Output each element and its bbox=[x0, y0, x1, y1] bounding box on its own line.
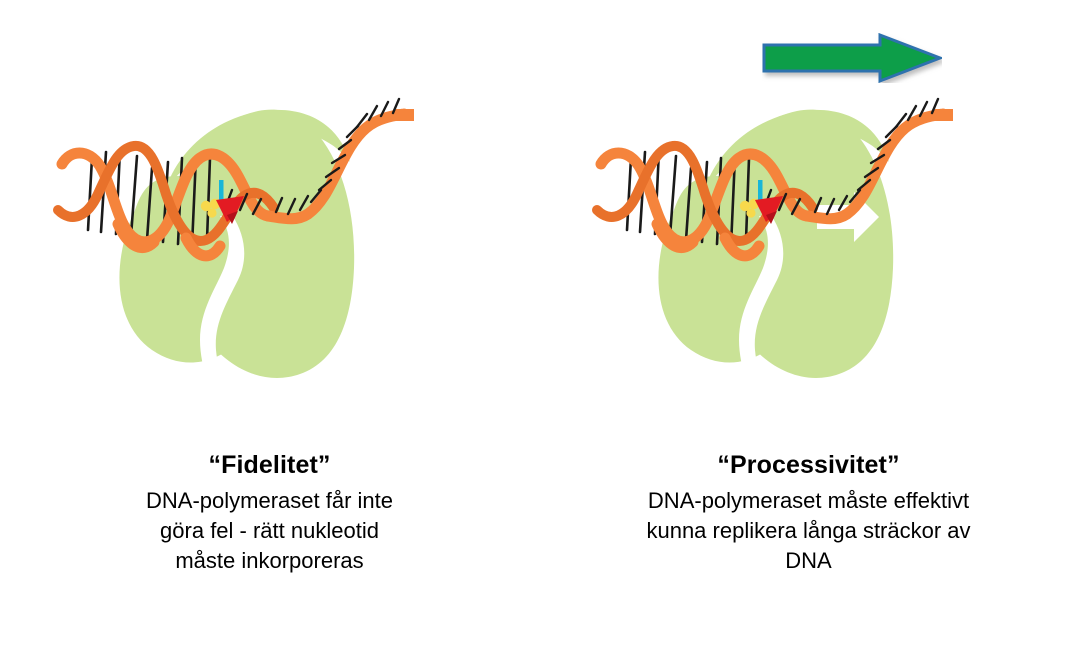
caption-line: DNA-polymeraset får inte bbox=[0, 486, 539, 516]
caption-title-fidelity: “Fidelitet” bbox=[0, 448, 539, 482]
figure-fidelity bbox=[0, 10, 539, 430]
panel-fidelity: “Fidelitet” DNA-polymeraset får inte gör… bbox=[0, 0, 539, 666]
caption-line: kunna replikera långa sträckor av bbox=[539, 516, 1078, 546]
slide-canvas: “Fidelitet” DNA-polymeraset får inte gör… bbox=[0, 0, 1078, 666]
green-progress-arrow bbox=[762, 33, 942, 83]
caption-title-processivity: “Processivitet” bbox=[539, 448, 1078, 482]
caption-line: DNA-polymeraset måste effektivt bbox=[539, 486, 1078, 516]
caption-fidelity: “Fidelitet” DNA-polymeraset får inte gör… bbox=[0, 448, 539, 576]
panel-processivity: “Processivitet” DNA-polymeraset måste ef… bbox=[539, 0, 1078, 666]
caption-line: göra fel - rätt nukleotid bbox=[0, 516, 539, 546]
caption-line: DNA bbox=[539, 546, 1078, 576]
arrow-shape bbox=[764, 35, 940, 81]
caption-body-processivity: DNA-polymeraset måste effektivt kunna re… bbox=[539, 486, 1078, 576]
caption-processivity: “Processivitet” DNA-polymeraset måste ef… bbox=[539, 448, 1078, 576]
caption-line: måste inkorporeras bbox=[0, 546, 539, 576]
caption-body-fidelity: DNA-polymeraset får inte göra fel - rätt… bbox=[0, 486, 539, 576]
